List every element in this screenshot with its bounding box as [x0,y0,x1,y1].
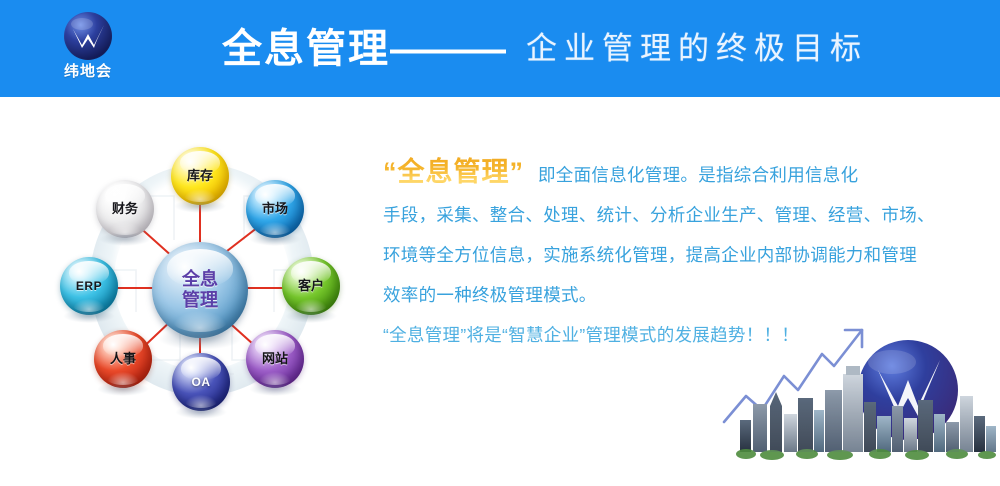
copy-keyword: “全息管理” [383,152,524,192]
node-shadow [285,309,336,323]
diagram-node-inventory[interactable]: 库存 [171,147,229,205]
brand-logo[interactable]: 纬地会 [36,12,140,86]
brand-name-label: 纬地会 [64,63,112,80]
copy-line-2: 环境等全方位信息，实施系统化管理，提高企业内部协调能力和管理 [383,235,923,275]
center-label-line1: 全息 [182,269,218,289]
node-shadow [99,232,150,246]
banner-page: 纬地会 全息管理 ——— 企业管理的终极目标 [0,0,1000,486]
diagram-node-center[interactable]: 全息管理 [152,242,248,338]
diagram-node-customer[interactable]: 客户 [282,257,340,315]
diagram-node-market[interactable]: 市场 [246,180,304,238]
node-label: 财务 [112,202,138,216]
city-skyline-growth-arrow-icon [712,318,1000,486]
holographic-management-diagram: 财务 库存 市场 客户 网站 OA 人事 ERP [44,140,364,420]
diagram-node-erp[interactable]: ERP [60,257,118,315]
node-shadow [97,382,148,396]
title-main-text: 全息管理 [222,27,390,71]
diagram-node-website[interactable]: 网站 [246,330,304,388]
node-label: 市场 [262,202,288,216]
node-shadow [249,232,300,246]
node-shadow [249,382,300,396]
center-label-line2: 管理 [182,290,218,310]
title-dash: ——— [390,27,504,71]
copy-line-3: 效率的一种终极管理模式。 [383,275,923,315]
node-shadow [174,199,225,213]
title-subtitle-text: 企业管理的终极目标 [526,27,868,71]
copy-lead-rest: 即全面信息化管理。是指综合利用信息化 [538,155,858,195]
page-header: 纬地会 全息管理 ——— 企业管理的终极目标 [0,0,1000,97]
node-label: ERP [76,279,102,293]
node-label: OA [192,375,211,389]
node-label: 人事 [110,352,136,366]
w-sphere-logo-icon [64,12,112,60]
copy-lead-line: “全息管理” 即全面信息化管理。是指综合利用信息化 [383,152,923,195]
node-label: 网站 [262,352,288,366]
node-shadow [63,309,114,323]
copy-line-1: 手段，采集、整合、处理、统计、分析企业生产、管理、经营、市场、 [383,195,923,235]
diagram-node-finance[interactable]: 财务 [96,180,154,238]
diagram-node-oa[interactable]: OA [172,353,230,411]
node-shadow [175,405,226,419]
center-node-label: 全息管理 [182,269,218,311]
page-title: 全息管理 ——— 企业管理的终极目标 [222,0,868,97]
node-label: 客户 [298,279,324,293]
node-label: 库存 [187,169,213,183]
diagram-node-hr[interactable]: 人事 [94,330,152,388]
